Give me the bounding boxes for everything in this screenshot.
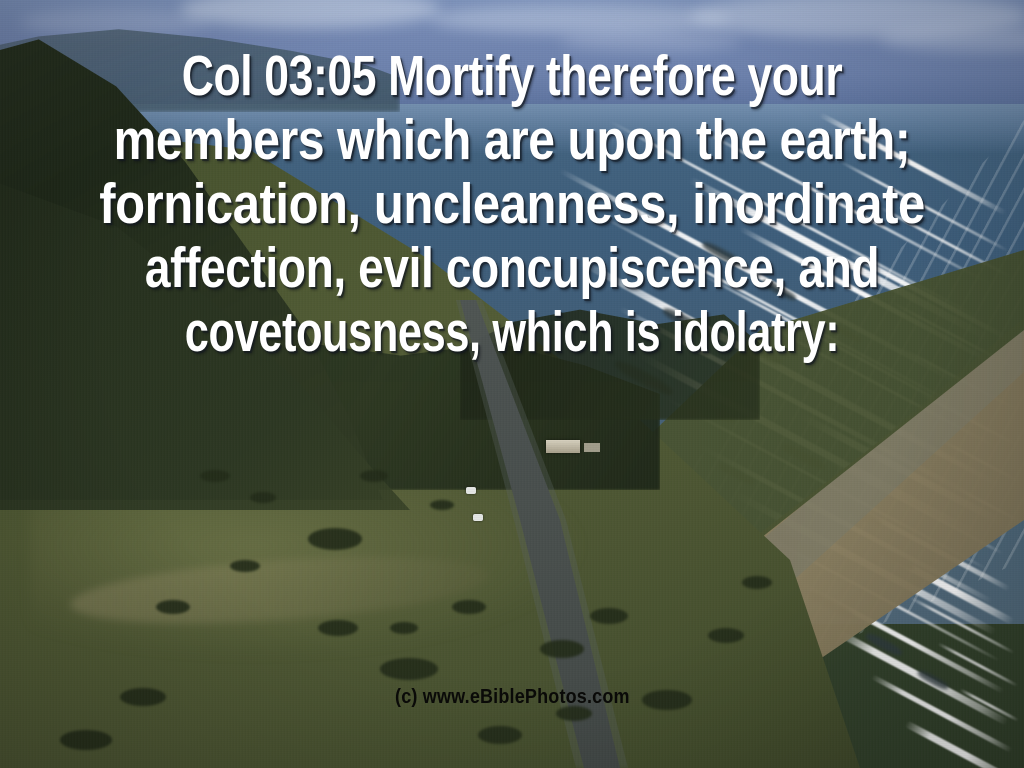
bush	[590, 608, 628, 624]
bush	[360, 470, 388, 482]
bush	[308, 528, 362, 550]
bush	[642, 690, 692, 710]
bush	[380, 658, 438, 680]
bush	[230, 560, 260, 572]
bush	[556, 706, 592, 721]
bush	[318, 620, 358, 636]
bush	[708, 628, 744, 643]
car	[466, 487, 476, 494]
bush	[200, 470, 230, 482]
bush	[250, 492, 276, 503]
bush	[452, 600, 486, 614]
cloud	[430, 4, 730, 34]
verse-image-canvas: Col 03:05 Mortify therefore your members…	[0, 0, 1024, 768]
coastal-photograph	[0, 0, 1024, 768]
bush	[390, 622, 418, 634]
bush	[478, 726, 522, 744]
bush	[540, 640, 584, 658]
bush	[60, 730, 112, 750]
bush	[156, 600, 190, 614]
car	[473, 514, 483, 521]
cloud	[560, 30, 740, 52]
small-building	[584, 443, 600, 452]
bush	[120, 688, 166, 706]
bush	[742, 576, 772, 589]
small-building	[546, 440, 580, 453]
bush	[430, 500, 454, 510]
